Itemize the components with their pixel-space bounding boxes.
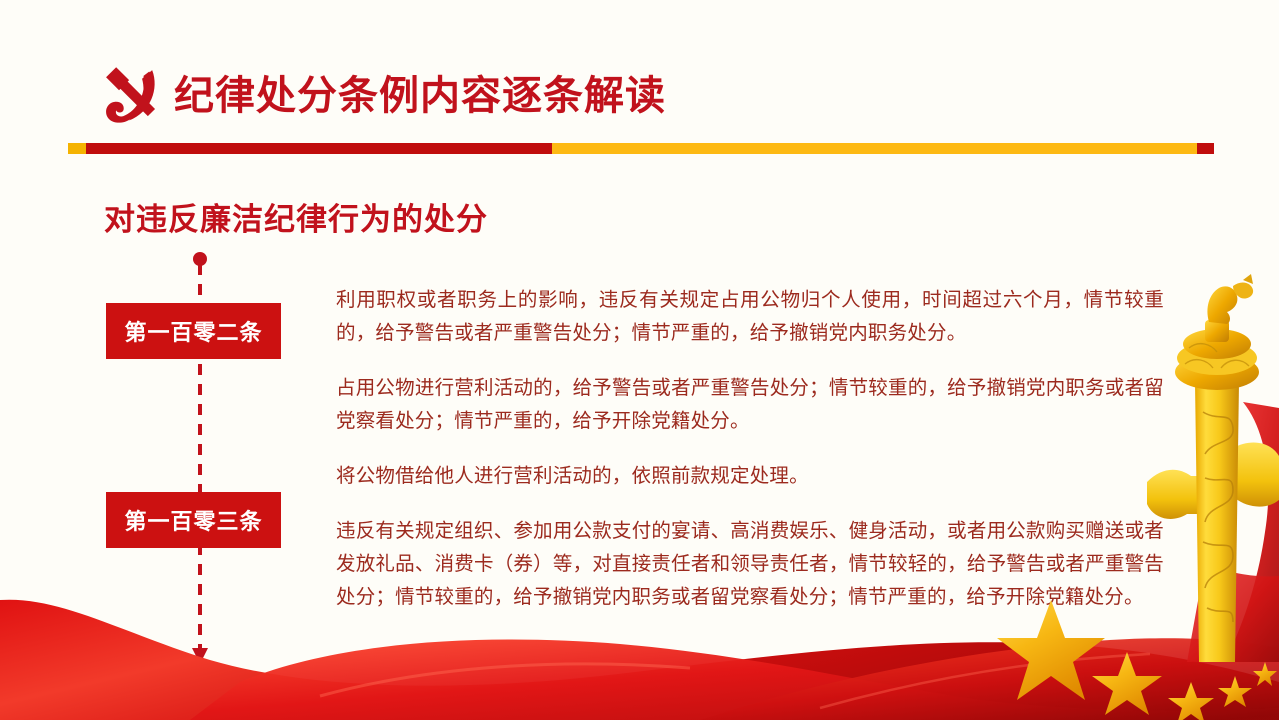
hammer-sickle-emblem-icon (96, 60, 168, 132)
timeline-end-arrow-icon (192, 648, 208, 664)
page-title: 纪律处分条例内容逐条解读 (174, 70, 666, 122)
article-103-paragraph-1: 违反有关规定组织、参加用公款支付的宴请、高消费娱乐、健身活动，或者用公款购买赠送… (336, 515, 1164, 614)
article-body-column: 利用职权或者职务上的影响，违反有关规定占用公物归个人使用，时间超过六个月，情节较… (336, 284, 1164, 614)
article-102-paragraph-1: 利用职权或者职务上的影响，违反有关规定占用公物归个人使用，时间超过六个月，情节较… (336, 284, 1164, 350)
slide-root: 纪律处分条例内容逐条解读 对违反廉洁纪律行为的处分 第一百零二条 第一百零三条 … (0, 0, 1279, 720)
article-102-paragraph-2: 占用公物进行营利活动的，给予警告或者严重警告处分；情节较重的，给予撤销党内职务或… (336, 372, 1164, 438)
divider-segment-gold-start (68, 143, 86, 154)
divider-segment-red (86, 143, 552, 154)
divider-segment-gold (552, 143, 1197, 154)
article-102-paragraph-3: 将公物借给他人进行营利活动的，依照前款规定处理。 (336, 460, 1164, 493)
article-badge-102[interactable]: 第一百零二条 (106, 303, 281, 359)
article-badge-103[interactable]: 第一百零三条 (106, 492, 281, 548)
divider-segment-red-end (1197, 143, 1214, 154)
slide-header: 纪律处分条例内容逐条解读 (0, 0, 1279, 160)
header-divider-bar (68, 143, 1214, 154)
huabiao-column-icon (1147, 232, 1279, 662)
section-heading: 对违反廉洁纪律行为的处分 (104, 194, 488, 239)
